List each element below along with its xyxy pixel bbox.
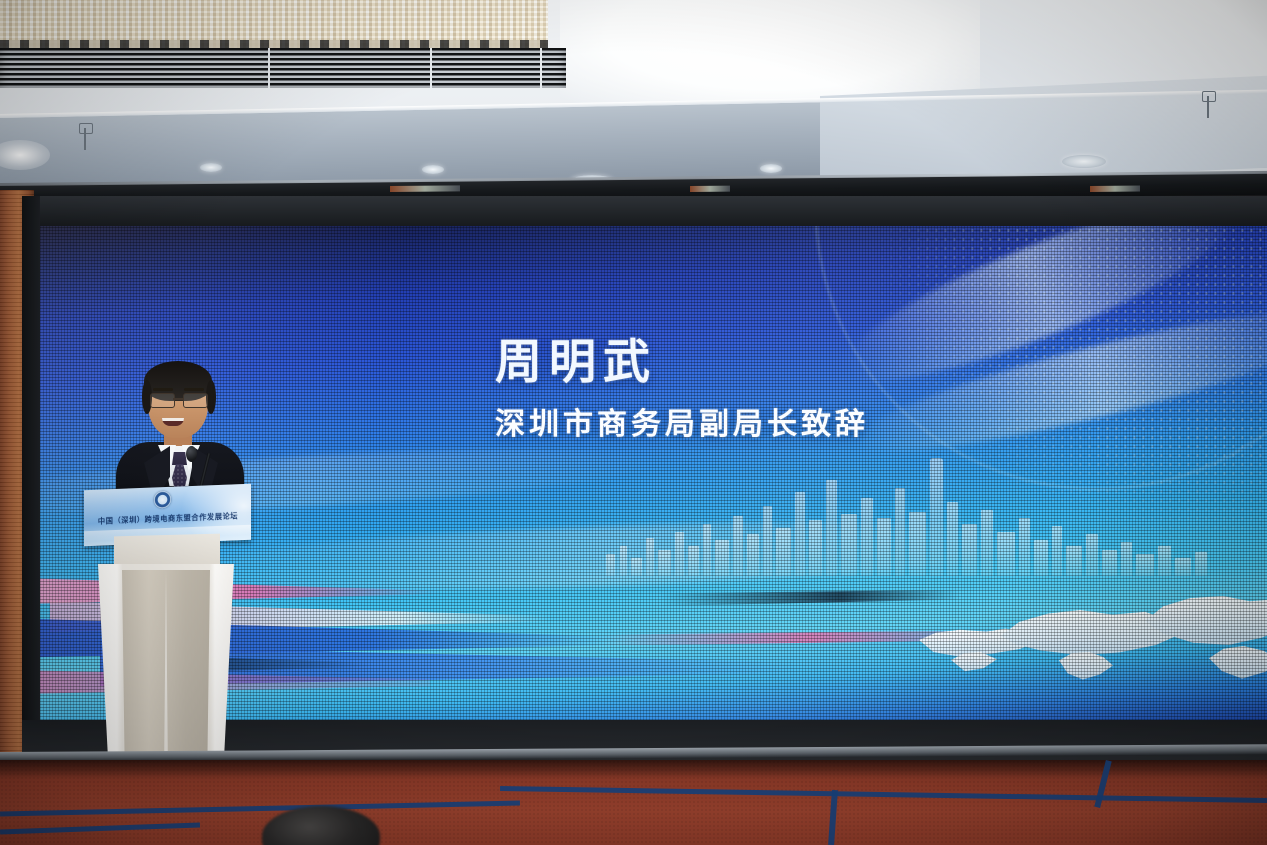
- tie-knot: [172, 452, 187, 465]
- ceiling-hanger-icon: [84, 128, 86, 150]
- truss-fitting: [690, 186, 730, 192]
- lens-right: [183, 393, 208, 408]
- conference-stage-photo: 周明武 深圳市商务局副局长致辞 中: [0, 0, 1267, 845]
- recessed-downlight-icon: [1062, 155, 1106, 168]
- diffuser-seam: [540, 48, 542, 88]
- city-skyline-silhouette: [600, 426, 1220, 576]
- microphone-head-icon: [186, 446, 197, 462]
- world-map-graphic: [909, 588, 1267, 726]
- speaker-name: 周明武: [495, 338, 869, 387]
- landmass: [1059, 652, 1113, 680]
- forum-emblem-icon: [154, 491, 171, 509]
- truss-fitting: [390, 185, 460, 192]
- eyebrow: [184, 388, 204, 391]
- linear-air-diffuser: [0, 48, 566, 88]
- floor-shadow: [0, 760, 1267, 778]
- ceiling-hanger-icon: [1207, 96, 1209, 118]
- eyebrow: [153, 388, 173, 391]
- recessed-downlight-icon: [422, 165, 444, 174]
- recessed-downlight-icon: [200, 163, 222, 172]
- eyeglasses-icon: [150, 393, 206, 406]
- landmass: [1209, 646, 1267, 680]
- glasses-bridge: [173, 398, 183, 400]
- recessed-downlight-icon: [760, 164, 782, 173]
- screen-top-bezel: [22, 196, 1267, 230]
- diffuser-seam: [268, 48, 270, 88]
- lens-left: [150, 393, 175, 408]
- truss-fitting: [1090, 186, 1140, 192]
- diffuser-seam: [430, 48, 432, 88]
